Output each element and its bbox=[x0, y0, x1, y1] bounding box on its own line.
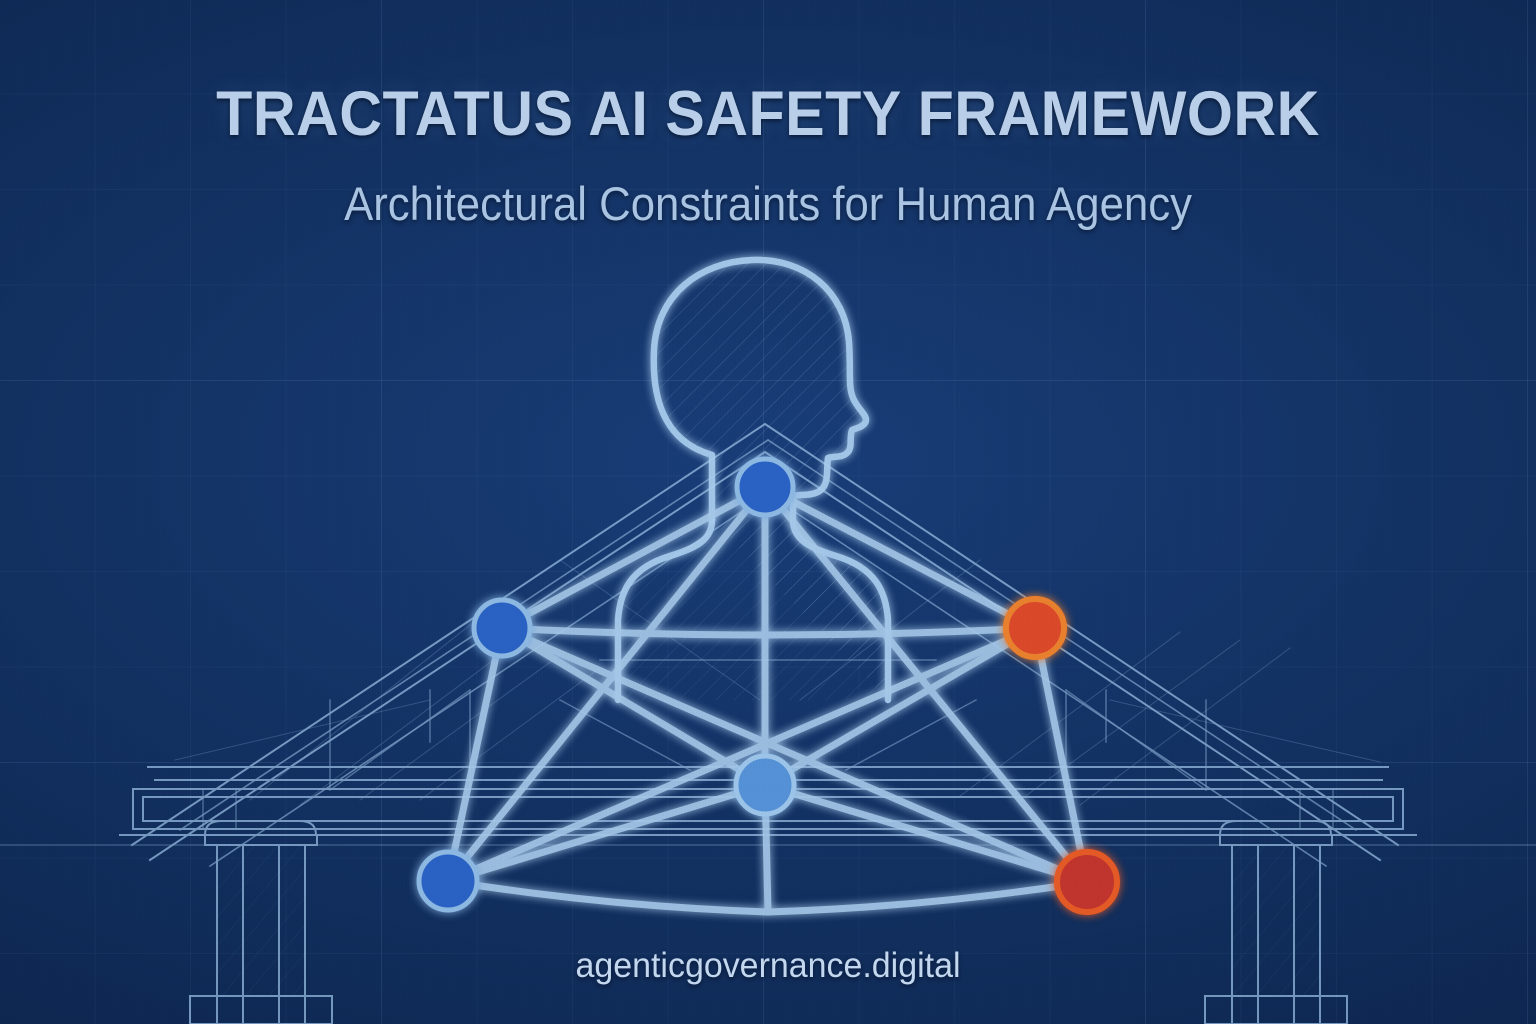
network-edge bbox=[765, 487, 1087, 882]
constraint-network-graph bbox=[0, 0, 1536, 1024]
network-edge bbox=[765, 487, 1035, 628]
network-edge bbox=[502, 487, 765, 628]
network-edge bbox=[765, 785, 1087, 882]
network-edge bbox=[448, 881, 768, 912]
network-edge bbox=[768, 882, 1087, 912]
footer-url[interactable]: agenticgovernance.digital bbox=[23, 946, 1513, 986]
page-subtitle: Architectural Constraints for Human Agen… bbox=[54, 176, 1482, 231]
network-edge bbox=[448, 487, 765, 881]
left-node[interactable] bbox=[474, 600, 530, 656]
right-node[interactable] bbox=[1006, 599, 1064, 657]
bottom-left-node[interactable] bbox=[419, 852, 477, 910]
network-edge bbox=[1035, 628, 1087, 882]
poster-canvas: TRACTATUS AI SAFETY FRAMEWORK Architectu… bbox=[0, 0, 1536, 1024]
center-node[interactable] bbox=[736, 756, 794, 814]
network-edge bbox=[502, 628, 1087, 882]
network-edges bbox=[448, 487, 1087, 912]
network-edge bbox=[448, 785, 765, 881]
apex-node[interactable] bbox=[737, 459, 793, 515]
page-title: TRACTATUS AI SAFETY FRAMEWORK bbox=[46, 78, 1490, 150]
bottom-right-node[interactable] bbox=[1057, 852, 1117, 912]
